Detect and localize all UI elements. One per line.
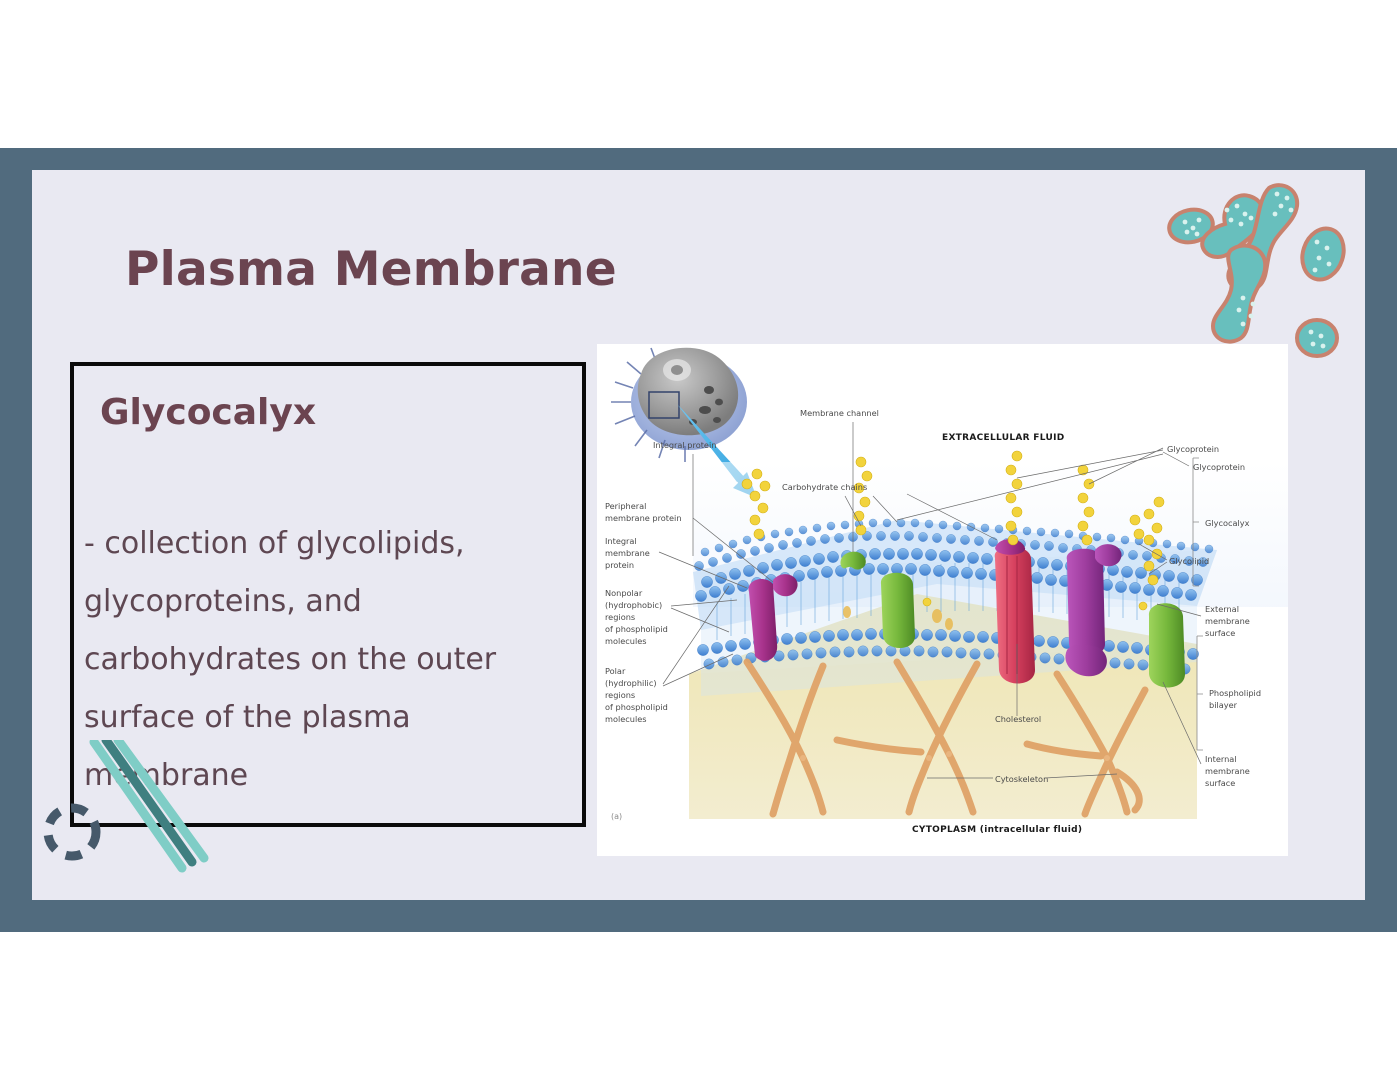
svg-text:regions: regions	[605, 612, 635, 622]
svg-text:Polar: Polar	[605, 666, 626, 676]
svg-text:Nonpolar: Nonpolar	[605, 588, 643, 598]
page-title: Plasma Membrane	[125, 242, 617, 297]
svg-text:Glycolipid: Glycolipid	[1169, 556, 1209, 566]
svg-text:membrane: membrane	[1205, 766, 1250, 776]
svg-text:protein: protein	[605, 560, 634, 570]
label-extracellular-fluid: EXTRACELLULAR FLUID	[942, 433, 1065, 443]
figure-label: (a)	[611, 812, 622, 821]
svg-text:CYTOPLASM (intracellular fluid: CYTOPLASM (intracellular fluid)	[912, 825, 1082, 835]
content-box-subtitle: Glycocalyx	[100, 392, 316, 433]
svg-text:Integral: Integral	[605, 536, 637, 546]
svg-text:Glycocalyx: Glycocalyx	[1205, 518, 1250, 528]
integral-protein-green	[881, 573, 915, 648]
svg-text:Peripheral: Peripheral	[605, 501, 646, 511]
svg-text:membrane: membrane	[1205, 616, 1250, 626]
svg-text:regions: regions	[605, 690, 635, 700]
svg-text:of phospholipid: of phospholipid	[605, 624, 668, 634]
svg-text:(hydrophilic): (hydrophilic)	[605, 678, 657, 688]
svg-text:External: External	[1205, 604, 1239, 614]
svg-text:Membrane channel: Membrane channel	[800, 408, 879, 418]
svg-text:molecules: molecules	[605, 636, 647, 646]
svg-text:EXTRACELLULAR FLUID: EXTRACELLULAR FLUID	[942, 433, 1065, 443]
slide-frame: Plasma Membrane Glycocalyx - collection …	[0, 148, 1397, 932]
svg-text:Integral protein: Integral protein	[653, 440, 716, 450]
svg-text:Cholesterol: Cholesterol	[995, 714, 1041, 724]
svg-text:membrane: membrane	[605, 548, 650, 558]
membrane-channel-protein-red	[995, 547, 1035, 684]
integral-protein-green-right	[1149, 603, 1185, 687]
svg-text:surface: surface	[1205, 628, 1235, 638]
svg-text:molecules: molecules	[605, 714, 647, 724]
svg-text:Phospholipid: Phospholipid	[1209, 688, 1261, 698]
svg-text:surface: surface	[1205, 778, 1235, 788]
slide-canvas: Plasma Membrane Glycocalyx - collection …	[32, 170, 1365, 900]
svg-text:Internal: Internal	[1205, 754, 1237, 764]
svg-text:Cytoskeleton: Cytoskeleton	[995, 774, 1048, 784]
svg-text:bilayer: bilayer	[1209, 700, 1238, 710]
svg-text:(hydrophobic): (hydrophobic)	[605, 600, 662, 610]
svg-text:Glycoprotein: Glycoprotein	[1167, 444, 1219, 454]
membrane-diagram-panel: Membrane channel Integral protein EXTRAC…	[597, 344, 1288, 856]
svg-text:membrane protein: membrane protein	[605, 513, 682, 523]
chromosome-cluster-icon	[1165, 170, 1365, 360]
content-box-body: - collection of glycolipids, glycoprotei…	[84, 515, 584, 805]
svg-text:of phospholipid: of phospholipid	[605, 702, 668, 712]
label-cytoplasm: CYTOPLASM (intracellular fluid)	[912, 825, 1082, 835]
svg-text:Carbohydrate chains: Carbohydrate chains	[782, 482, 867, 492]
svg-text:Glycoprotein: Glycoprotein	[1193, 462, 1245, 472]
